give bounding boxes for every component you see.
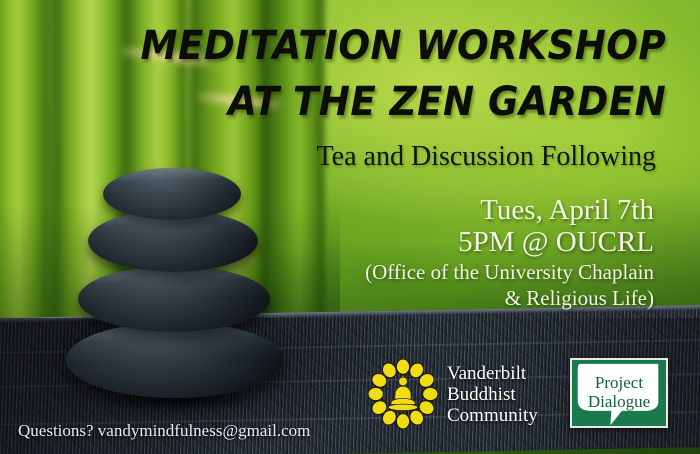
- event-date: Tues, April 7th: [480, 194, 654, 227]
- headline-line-1: MEDITATION WORKSHOP: [140, 24, 666, 68]
- project-dialogue-logo: Project Dialogue: [570, 358, 668, 428]
- meditation-workshop-poster: MEDITATION WORKSHOP AT THE ZEN GARDEN Te…: [0, 0, 700, 454]
- contact-email: Questions? vandymindfulness@gmail.com: [18, 421, 310, 441]
- project-dialogue-text: Project Dialogue: [572, 373, 666, 411]
- vanderbilt-buddhist-community-logo: Vanderbilt Buddhist Community: [368, 357, 554, 431]
- stacked-zen-stones: [56, 168, 296, 418]
- vbc-logo-text: Vanderbilt Buddhist Community: [447, 363, 538, 426]
- pd-line-2: Dialogue: [572, 392, 666, 411]
- pd-line-1: Project: [572, 373, 666, 392]
- event-time-location: 5PM @ OUCRL: [458, 226, 654, 259]
- location-detail-line-2: & Religious Life): [505, 286, 654, 311]
- lotus-buddha-icon: [368, 359, 438, 429]
- vbc-line-1: Vanderbilt: [447, 363, 538, 384]
- vbc-line-3: Community: [447, 405, 538, 426]
- stone-top: [103, 168, 241, 220]
- vbc-line-2: Buddhist: [447, 384, 538, 405]
- headline-line-2: AT THE ZEN GARDEN: [228, 80, 666, 124]
- stone-bottom: [66, 322, 284, 398]
- subtitle: Tea and Discussion Following: [317, 141, 656, 173]
- stone-third: [78, 266, 270, 332]
- location-detail-line-1: (Office of the University Chaplain: [365, 260, 654, 285]
